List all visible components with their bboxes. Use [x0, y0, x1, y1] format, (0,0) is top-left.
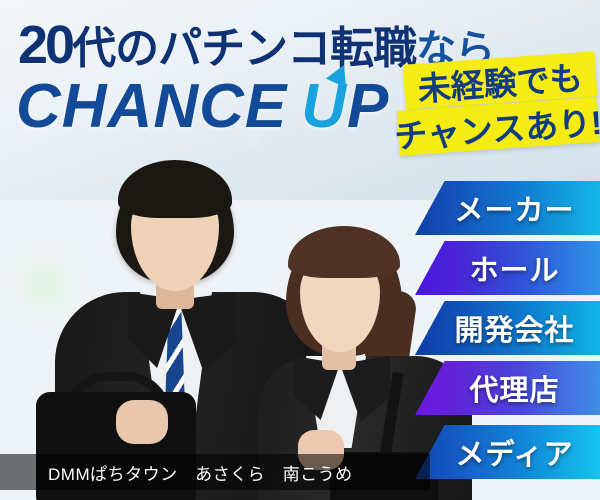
category-label-media: メディア — [415, 431, 600, 473]
category-label-developer: 開発会社 — [415, 307, 600, 349]
category-label-hall: ホール — [415, 247, 600, 289]
chance-up-banner: 20代のパチンコ転職なら CHANCEUP 未経験でも チャンスあり! メーカー… — [0, 0, 600, 500]
category-label-maker: メーカー — [415, 187, 600, 229]
category-button-agency[interactable]: 代理店 — [415, 361, 600, 415]
category-label-agency: 代理店 — [415, 367, 600, 409]
caption-bar: DMMぱちタウン あさくら 南こうめ — [0, 454, 430, 490]
category-button-developer[interactable]: 開発会社 — [415, 301, 600, 355]
category-button-hall[interactable]: ホール — [415, 241, 600, 295]
category-button-maker[interactable]: メーカー — [415, 181, 600, 235]
category-button-media[interactable]: メディア — [415, 425, 600, 479]
caption-text: DMMぱちタウン あさくら 南こうめ — [0, 460, 353, 485]
category-button-list: メーカー ホール 開発会社 代理店 メディア — [0, 0, 600, 500]
